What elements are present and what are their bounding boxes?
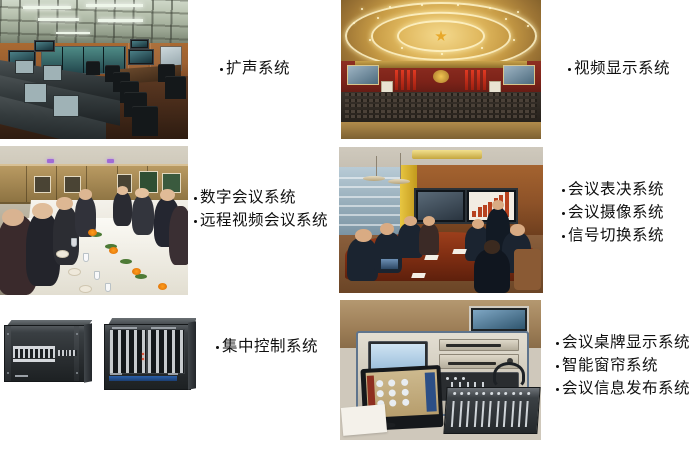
- bullet-icon: [562, 212, 565, 215]
- input-connector-bank: [109, 329, 147, 374]
- floor-apron: [341, 122, 541, 139]
- caption-group-voting-camera-switching: 会议表决系统 会议摄像系统 信号切换系统: [562, 178, 664, 247]
- attendee-head: [380, 223, 394, 235]
- caption-text: 会议摄像系统: [568, 201, 664, 224]
- wall-monitor: [130, 39, 149, 49]
- matrix-switcher-equipment-photo: [4, 320, 92, 384]
- desk-monitor: [43, 65, 62, 81]
- bullet-icon: [216, 346, 219, 349]
- chair: [165, 76, 186, 98]
- caption-text: 远程视频会议系统: [200, 209, 328, 232]
- wall-monitor: [128, 49, 154, 65]
- desk-monitor: [24, 83, 47, 103]
- bullet-icon: [556, 388, 559, 391]
- caption-line: 智能窗帘系统: [556, 354, 690, 377]
- caption-line: 远程视频会议系统: [194, 209, 328, 232]
- slide-canvas: 扩声系统: [0, 0, 700, 449]
- attendee: [419, 223, 439, 255]
- caption-line: 数字会议系统: [194, 186, 328, 209]
- bullet-icon: [568, 68, 571, 71]
- caption-text: 扩声系统: [226, 57, 290, 80]
- rack-side: [84, 323, 92, 382]
- caption-text: 会议表决系统: [568, 178, 664, 201]
- caption-group-sound-reinforcement: 扩声系统: [220, 57, 290, 80]
- attendee-head: [135, 188, 148, 198]
- caption-text: 数字会议系统: [200, 186, 296, 209]
- boardroom-scene: [339, 147, 543, 293]
- control-room-video-wall-photo: [0, 0, 188, 139]
- caption-text: 会议桌牌显示系统: [562, 331, 690, 354]
- framed-picture: [64, 176, 81, 193]
- rack-drawer: [439, 339, 519, 351]
- caption-line: 会议表决系统: [562, 178, 664, 201]
- caption-text: 信号切换系统: [568, 224, 664, 247]
- attendee-head: [32, 203, 53, 219]
- ceiling-light: [23, 6, 72, 9]
- wall-monitor: [34, 40, 55, 52]
- caption-text: 智能窗帘系统: [562, 354, 658, 377]
- large-matrix-switcher: [104, 318, 196, 392]
- output-connector-bank: [147, 329, 185, 374]
- wall-monitor: [469, 306, 529, 334]
- boardroom-video-conference-photo: [339, 147, 543, 293]
- ceiling-mic-indicator: [107, 159, 114, 163]
- caption-line: 集中控制系统: [216, 335, 318, 358]
- audio-mixing-console[interactable]: [443, 387, 541, 434]
- attendee-head: [510, 224, 524, 236]
- auditorium-scene: [341, 0, 541, 139]
- bnc-connector-bank: [13, 349, 55, 358]
- grand-auditorium-photo: [341, 0, 541, 139]
- laptop: [380, 258, 399, 270]
- attendee-head: [484, 240, 500, 253]
- attendee: [169, 206, 188, 266]
- caption-line: 会议信息发布系统: [556, 377, 690, 400]
- status-band: [109, 376, 177, 381]
- av-control-console-photo: [340, 300, 541, 440]
- attendee-head: [117, 186, 128, 195]
- caption-group-digital-conference: 数字会议系统 远程视频会议系统: [194, 186, 328, 232]
- control-console-scene: [340, 300, 541, 440]
- ceiling-light-panel: [412, 150, 481, 159]
- chair: [86, 61, 99, 75]
- framed-picture: [34, 176, 51, 193]
- bullet-icon: [220, 68, 223, 71]
- central-control-host: [4, 320, 92, 384]
- bullet-icon: [556, 342, 559, 345]
- chair: [132, 106, 158, 137]
- bullet-icon: [562, 189, 565, 192]
- control-room-scene: [0, 0, 188, 139]
- attendee-head: [79, 189, 92, 199]
- attendee-head: [404, 216, 416, 226]
- side-display-screen: [347, 65, 379, 85]
- ceiling-light: [38, 18, 79, 21]
- presenter-head: [492, 200, 504, 210]
- matrix-switcher-large-photo: [104, 318, 196, 392]
- stage-front-trim: [355, 61, 527, 68]
- ceiling-light: [56, 32, 90, 34]
- banquet-conference-scene: [0, 146, 188, 295]
- caption-line: 信号切换系统: [562, 224, 664, 247]
- ceiling-light: [98, 19, 143, 22]
- attendee-head: [472, 219, 484, 229]
- attendee: [474, 249, 511, 293]
- bullet-icon: [562, 235, 565, 238]
- caption-group-central-control: 集中控制系统: [216, 335, 318, 358]
- ceiling-mic-indicator: [47, 159, 54, 163]
- desk-monitor: [15, 60, 34, 75]
- national-emblem-icon: [433, 70, 449, 83]
- rack-front-panel: [104, 324, 191, 390]
- caption-text: 集中控制系统: [222, 335, 318, 358]
- attendee-head: [355, 229, 371, 242]
- caption-line: 会议摄像系统: [562, 201, 664, 224]
- attendee: [132, 194, 155, 236]
- attendee: [113, 191, 132, 227]
- paper-documents: [341, 405, 387, 437]
- chair: [514, 249, 541, 290]
- caption-line: 会议桌牌显示系统: [556, 331, 690, 354]
- caption-line: 扩声系统: [220, 57, 290, 80]
- headphones-icon: [493, 362, 525, 388]
- caption-line: 视频显示系统: [568, 57, 670, 80]
- bullet-icon: [194, 220, 197, 223]
- rack-side: [188, 322, 196, 390]
- bullet-icon: [194, 197, 197, 200]
- caption-group-nameplate-curtain-info: 会议桌牌显示系统 智能窗帘系统 会议信息发布系统: [556, 331, 690, 400]
- side-display-screen: [503, 65, 535, 85]
- audience-seating: [341, 92, 541, 125]
- desk-monitor: [53, 95, 79, 118]
- caption-text: 会议信息发布系统: [562, 377, 690, 400]
- caption-group-video-display: 视频显示系统: [568, 57, 670, 80]
- attendee-head: [423, 216, 435, 226]
- attendee-head: [160, 189, 175, 201]
- caption-text: 视频显示系统: [574, 57, 670, 80]
- rack-front-panel: [4, 325, 87, 382]
- bullet-icon: [556, 365, 559, 368]
- ceiling-light: [86, 4, 142, 7]
- long-conference-table-photo: [0, 146, 188, 295]
